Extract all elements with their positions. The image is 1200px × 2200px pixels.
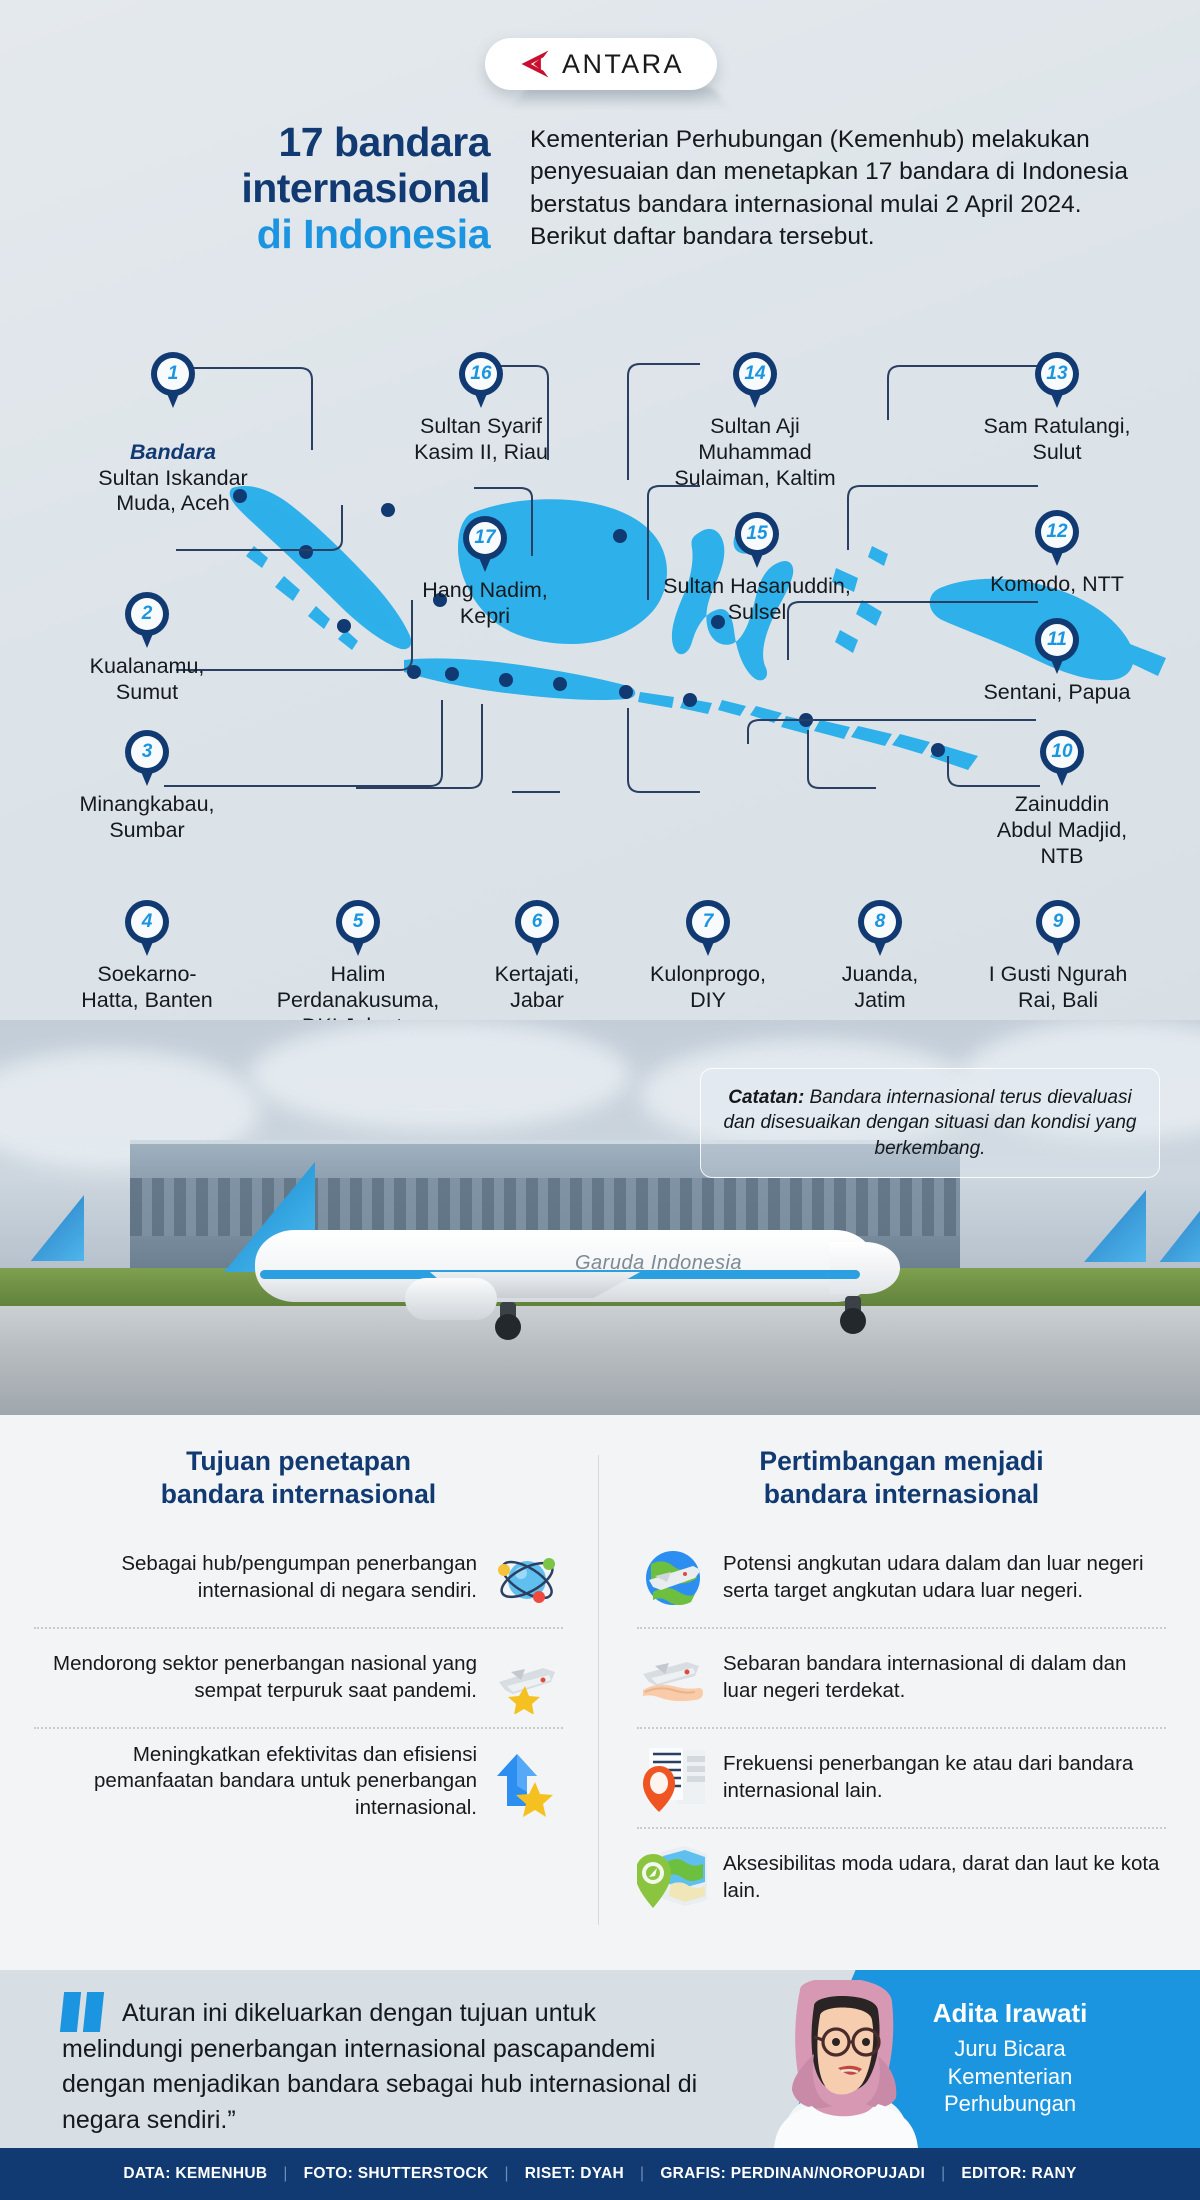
footer-separator: |	[504, 2165, 508, 2183]
pin-city-icon	[637, 1742, 709, 1814]
speaker-role: Juru Bicara Kementerian Perhubungan	[860, 2035, 1160, 2118]
airport-pin-10[interactable]: 10 Zainuddin Abdul Madjid, NTB	[962, 730, 1162, 869]
consideration-item-2-text: Sebaran bandara internasional di dalam d…	[723, 1651, 1166, 1704]
footer-separator: |	[941, 2165, 945, 2183]
airport-label-12: Komodo, NTT	[962, 572, 1152, 598]
intro-paragraph: Kementerian Perhubungan (Kemenhub) melak…	[530, 124, 1130, 253]
note-label: Catatan:	[728, 1087, 804, 1108]
airport-pin-15[interactable]: 15 Sultan Hasanuddin, Sulsel	[652, 512, 862, 626]
globe-plane-icon	[637, 1542, 709, 1614]
pin-number: 15	[741, 518, 773, 550]
map-pin-icon: 1	[151, 352, 195, 408]
map-pin-icon: 17	[463, 516, 507, 572]
airplane-star-icon	[491, 1642, 563, 1714]
pin-number: 7	[692, 906, 724, 938]
consideration-item-3: Frekuensi penerbangan ke atau dari banda…	[637, 1729, 1166, 1827]
consideration-item-1: Potensi angkutan udara dalam dan luar ne…	[637, 1529, 1166, 1627]
map-pin-icon: 6	[515, 900, 559, 956]
middle-section: Tujuan penetapan bandara internasional S…	[0, 1415, 1200, 1970]
pin-number: 3	[131, 736, 163, 768]
airport-pin-8[interactable]: 8 Juanda, Jatim	[800, 900, 960, 1014]
airport-label-14: Sultan Aji Muhammad Sulaiman, Kaltim	[660, 414, 850, 491]
antara-triangle-logo-icon	[518, 48, 552, 80]
map-pin-icon: 7	[686, 900, 730, 956]
purpose-item-3: Meningkatkan efektivitas dan efisiensi p…	[34, 1729, 563, 1835]
pin-number: 10	[1046, 736, 1078, 768]
purpose-item-1: Sebagai hub/pengumpan penerbangan intern…	[34, 1529, 563, 1627]
map-pin-icon: 16	[459, 352, 503, 408]
considerations-column: Pertimbangan menjadi bandara internasion…	[603, 1415, 1200, 1970]
airport-label-16: Sultan Syarif Kasim II, Riau	[386, 414, 576, 466]
consideration-item-4-text: Aksesibilitas moda udara, darat dan laut…	[723, 1851, 1166, 1904]
garuda-indonesia-text: Garuda Indonesia	[575, 1252, 742, 1275]
airport-pin-3[interactable]: 3 Minangkabau, Sumbar	[52, 730, 242, 844]
quote-section: Aturan ini dikeluarkan dengan tujuan unt…	[0, 1970, 1200, 2148]
hand-plane-icon	[637, 1642, 709, 1714]
pin-number: 12	[1041, 516, 1073, 548]
airport-pin-9[interactable]: 9 I Gusti Ngurah Rai, Bali	[958, 900, 1158, 1014]
airport-label-7: Kulonprogo, DIY	[618, 962, 798, 1014]
map-pin-icon: 11	[1035, 618, 1079, 674]
quote-text: Aturan ini dikeluarkan dengan tujuan unt…	[62, 1996, 702, 2138]
airport-label-15: Sultan Hasanuddin, Sulsel	[652, 574, 862, 626]
map-pin-icon: 13	[1035, 352, 1079, 408]
consideration-item-1-text: Potensi angkutan udara dalam dan luar ne…	[723, 1551, 1166, 1604]
airport-pin-17[interactable]: 17 Hang Nadim, Kepri	[390, 516, 580, 630]
title-line-1: 17 bandara	[90, 120, 490, 166]
column-divider	[598, 1455, 599, 1925]
tarmac	[0, 1306, 1200, 1415]
airport-pin-11[interactable]: 11 Sentani, Papua	[962, 618, 1152, 706]
antara-logo: ANTARA	[485, 38, 717, 90]
airport-label-17: Hang Nadim, Kepri	[390, 578, 580, 630]
airport-label-4: Soekarno- Hatta, Banten	[52, 962, 242, 1014]
plane-nose	[830, 1242, 900, 1294]
airport-label-8: Juanda, Jatim	[800, 962, 960, 1014]
footer-credits: DATA: KEMENHUB | FOTO: SHUTTERSTOCK | RI…	[0, 2148, 1200, 2200]
purpose-column: Tujuan penetapan bandara internasional S…	[0, 1415, 603, 1970]
pin-number: 8	[864, 906, 896, 938]
pin-number: 9	[1042, 906, 1074, 938]
purpose-item-2: Mendorong sektor penerbangan nasional ya…	[34, 1629, 563, 1727]
map-pin-icon: 14	[733, 352, 777, 408]
airport-label-10: Zainuddin Abdul Madjid, NTB	[962, 792, 1162, 869]
airport-pin-12[interactable]: 12 Komodo, NTT	[962, 510, 1152, 598]
airport-pin-2[interactable]: 2 Kualanamu, Sumut	[52, 592, 242, 706]
airport-label-13: Sam Ratulangi, Sulut	[962, 414, 1152, 466]
airport-pin-16[interactable]: 16 Sultan Syarif Kasim II, Riau	[386, 352, 576, 466]
map-pin-icon: 12	[1035, 510, 1079, 566]
footer-editor: EDITOR: RANY	[961, 2165, 1076, 2183]
plane-engine	[405, 1278, 497, 1320]
footer-data: DATA: KEMENHUB	[123, 2165, 267, 2183]
consideration-item-2: Sebaran bandara internasional di dalam d…	[637, 1629, 1166, 1727]
map-pin-icon	[637, 1842, 709, 1914]
speaker-info: Adita Irawati Juru Bicara Kementerian Pe…	[860, 1998, 1160, 2118]
map-pin-icon: 5	[336, 900, 380, 956]
title-line-2: internasional	[90, 166, 490, 212]
pin-number: 17	[469, 522, 501, 554]
map-pin-icon: 9	[1036, 900, 1080, 956]
airport-pin-5[interactable]: 5 Halim Perdanakusuma, DKI Jakarta	[258, 900, 458, 1039]
map-pin-icon: 4	[125, 900, 169, 956]
pin-number: 14	[739, 358, 771, 390]
tailfin-right-2	[1140, 1198, 1200, 1262]
atom-globe-icon	[491, 1542, 563, 1614]
pin-number: 5	[342, 906, 374, 938]
purpose-item-2-text: Mendorong sektor penerbangan nasional ya…	[34, 1651, 477, 1704]
airport-label-3: Minangkabau, Sumbar	[52, 792, 242, 844]
footer-foto: FOTO: SHUTTERSTOCK	[304, 2165, 489, 2183]
pin-number: 11	[1041, 624, 1073, 656]
airport-pin-14[interactable]: 14 Sultan Aji Muhammad Sulaiman, Kaltim	[660, 352, 850, 491]
airport-pin-4[interactable]: 4 Soekarno- Hatta, Banten	[52, 900, 242, 1014]
pin-number: 6	[521, 906, 553, 938]
top-section: ANTARA 17 bandara internasional di Indon…	[0, 0, 1200, 1075]
airport-label-6: Kertajati, Jabar	[452, 962, 622, 1014]
infographic-page: ANTARA 17 bandara internasional di Indon…	[0, 0, 1200, 2200]
page-title: 17 bandara internasional di Indonesia	[90, 120, 490, 258]
landing-gear-main	[500, 1302, 516, 1330]
footer-separator: |	[283, 2165, 287, 2183]
title-line-3: di Indonesia	[90, 212, 490, 258]
pin-number: 16	[465, 358, 497, 390]
pin-number: 13	[1041, 358, 1073, 390]
airport-label-11: Sentani, Papua	[962, 680, 1152, 706]
map-pin-icon: 10	[1040, 730, 1084, 786]
consideration-item-4: Aksesibilitas moda udara, darat dan laut…	[637, 1829, 1166, 1927]
airport-label-1: BandaraSultan Iskandar Muda, Aceh	[78, 414, 268, 517]
pin-number: 1	[157, 358, 189, 390]
airport-pin-7[interactable]: 7 Kulonprogo, DIY	[618, 900, 798, 1014]
map-pin-icon: 8	[858, 900, 902, 956]
airport-pin-13[interactable]: 13 Sam Ratulangi, Sulut	[962, 352, 1152, 466]
map-pin-icon: 15	[735, 512, 779, 568]
airport-pin-1[interactable]: 1 BandaraSultan Iskandar Muda, Aceh	[78, 352, 268, 517]
considerations-title: Pertimbangan menjadi bandara internasion…	[637, 1445, 1166, 1511]
footer-riset: RISET: DYAH	[525, 2165, 624, 2183]
purpose-item-1-text: Sebagai hub/pengumpan penerbangan intern…	[34, 1551, 477, 1604]
logo-shadow	[511, 87, 730, 108]
landing-gear-nose	[845, 1296, 861, 1324]
consideration-item-3-text: Frekuensi penerbangan ke atau dari banda…	[723, 1751, 1166, 1804]
airport-label-2: Kualanamu, Sumut	[52, 654, 242, 706]
tailfin-right-1	[1060, 1190, 1146, 1262]
footer-grafis: GRAFIS: PERDINAN/NOROPUJADI	[660, 2165, 925, 2183]
speaker-name: Adita Irawati	[860, 1998, 1160, 2029]
purpose-item-3-text: Meningkatkan efektivitas dan efisiensi p…	[34, 1742, 477, 1822]
arrow-up-star-icon	[491, 1746, 563, 1818]
pin-number: 4	[131, 906, 163, 938]
airport-label-9: I Gusti Ngurah Rai, Bali	[958, 962, 1158, 1014]
pin-number: 2	[131, 598, 163, 630]
tailfin-left	[10, 1195, 84, 1261]
purpose-title: Tujuan penetapan bandara internasional	[34, 1445, 563, 1511]
map-pin-icon: 3	[125, 730, 169, 786]
note-box: Catatan: Bandara internasional terus die…	[700, 1068, 1160, 1178]
map-pin-icon: 2	[125, 592, 169, 648]
footer-separator: |	[640, 2165, 644, 2183]
antara-logo-text: ANTARA	[562, 49, 684, 80]
airport-pin-6[interactable]: 6 Kertajati, Jabar	[452, 900, 622, 1014]
